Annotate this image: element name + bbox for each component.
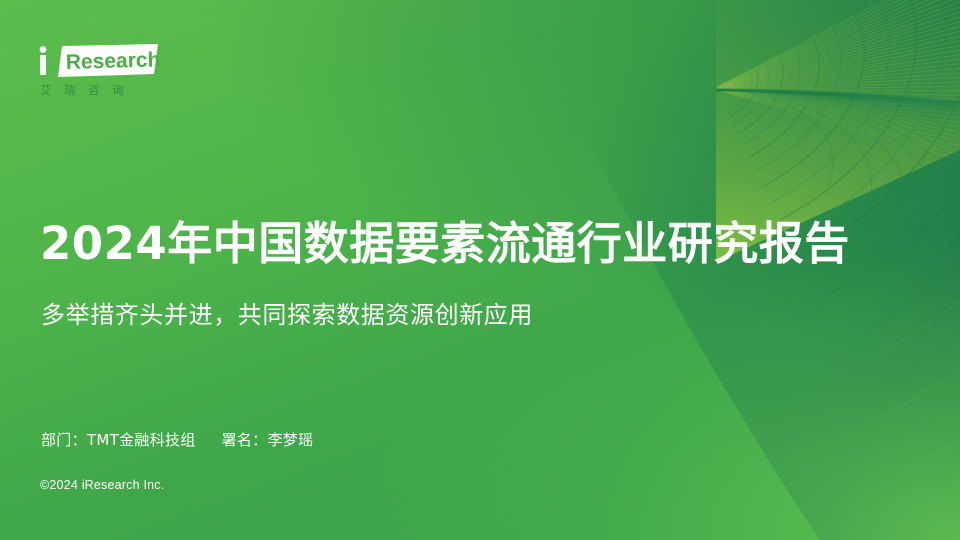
copyright-notice: ©2024 iResearch Inc. [40,478,164,492]
page-title: 2024年中国数据要素流通行业研究报告 [40,216,930,272]
iresearch-logo[interactable]: Research 艾瑞咨询 [38,44,228,112]
department-label: 部门： [41,431,87,449]
logo-wordmark: Research [38,44,160,80]
author-label: 署名： [222,431,268,449]
page-subtitle: 多举措齐头并进，共同探索数据资源创新应用 [41,300,533,331]
logo-wordmark-svg: Research [38,44,160,80]
report-cover-slide: Research 艾瑞咨询 2024年中国数据要素流通行业研究报告 多举措齐头并… [0,0,960,540]
logo-letter-i [40,46,47,75]
byline: 部门：TMT金融科技组署名：李梦瑶 [41,429,313,450]
logo-research-text: Research [65,48,160,74]
department-value: TMT金融科技组 [87,431,196,449]
author-value: 李梦瑶 [267,431,313,449]
logo-chinese-name: 艾瑞咨询 [40,85,228,97]
